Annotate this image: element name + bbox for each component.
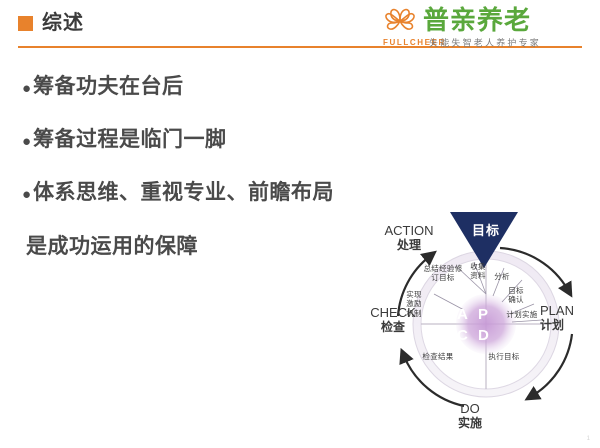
list-item: ● 筹备过程是临门一脚 (22, 127, 412, 152)
action-label-en: ACTION (378, 224, 440, 239)
inner-label-summarize: 总结经验修订目标 (422, 264, 464, 283)
bullet-dot-icon: ● (22, 81, 31, 96)
title-bullet-square (18, 16, 33, 31)
goal-label: 目标 (456, 220, 516, 239)
inner-label-execute-goal: 执行目标 (482, 352, 526, 361)
action-label-cn: 处理 (378, 239, 440, 253)
logo-tagline: 失能失智老人养护专家 (429, 36, 541, 49)
title-label: 综述 (42, 13, 84, 33)
inner-label-mechanism: 实现激励机制 (404, 290, 424, 318)
plan-label-en: PLAN (540, 304, 598, 319)
bullet-text: 筹备过程是临门一脚 (33, 127, 227, 152)
bullet-text: 体系思维、重视专业、前瞻布局 (33, 180, 334, 205)
logo-secondary-row: FULLCHEER 失能失智老人养护专家 (382, 36, 592, 49)
bullet-list: ● 筹备功夫在台后 ● 筹备过程是临门一脚 ● 体系思维、重视专业、前瞻布局 是… (22, 74, 412, 259)
slide-canvas: 综述 普亲养老 FULLCHEER 失能失智老人养护专家 ● (0, 0, 600, 448)
list-item: ● 筹备功夫在台后 (22, 74, 412, 99)
logo-brand-name: 普亲养老 (423, 6, 531, 35)
center-letter-a: A (457, 307, 468, 322)
clover-flower-icon (382, 5, 418, 35)
pdca-quadrant-plan: PLAN 计划 (540, 304, 598, 333)
inner-label-collect: 收集资料 (468, 262, 488, 281)
bullet-continuation-text: 是成功运用的保障 (26, 234, 412, 259)
brand-logo: 普亲养老 FULLCHEER 失能失智老人养护专家 (382, 4, 592, 48)
logo-primary-row: 普亲养老 (382, 4, 592, 35)
center-letter-d: D (478, 328, 489, 343)
center-letter-c: C (457, 328, 468, 343)
logo-brand-latin: FULLCHEER (383, 38, 421, 47)
plan-label-cn: 计划 (540, 319, 598, 333)
bullet-dot-icon: ● (22, 134, 31, 149)
check-label-cn: 检查 (364, 321, 422, 335)
do-label-cn: 实施 (442, 417, 498, 431)
bullet-dot-icon: ● (22, 187, 31, 202)
center-letter-p: P (478, 307, 488, 322)
inner-label-plan-execute: 计划实施 (504, 310, 540, 319)
inner-label-check-result: 检查结果 (416, 352, 460, 361)
page-title: 综述 (18, 13, 84, 33)
page-number: 1 (587, 436, 590, 442)
bullet-text: 筹备功夫在台后 (33, 74, 184, 99)
list-item: ● 体系思维、重视专业、前瞻布局 (22, 180, 412, 205)
pdca-cycle-diagram: 目标 ACTION 处理 PLAN 计划 CHECK 检查 DO 实施 总结经验… (372, 206, 600, 444)
do-label-en: DO (442, 402, 498, 417)
pdca-quadrant-action: ACTION 处理 (378, 224, 440, 253)
inner-label-goal-confirm: 目标确认 (506, 286, 526, 305)
pdca-quadrant-do: DO 实施 (442, 402, 498, 431)
inner-label-analyze: 分析 (492, 272, 512, 281)
